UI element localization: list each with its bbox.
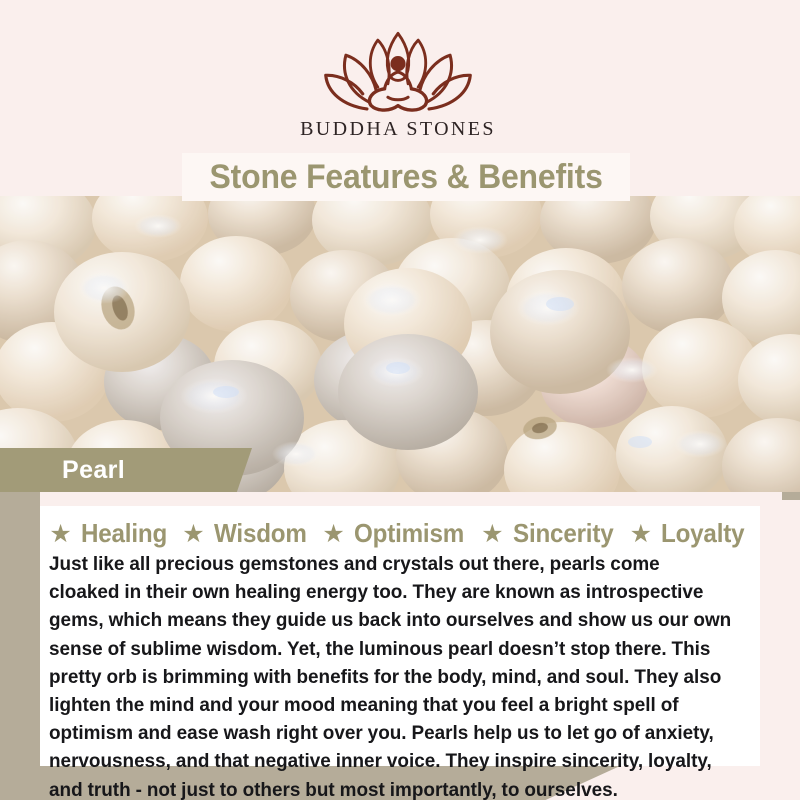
stone-name-banner: Pearl [0, 448, 252, 492]
stone-features-infographic: BUDDHA STONES Stone Features & Benefits [0, 0, 800, 800]
left-edge-band [0, 485, 40, 800]
lotus-meditation-figure-icon [314, 28, 482, 116]
stone-description: Just like all precious gemstones and cry… [49, 550, 733, 800]
title-plate: Stone Features & Benefits [182, 153, 630, 201]
pearls-photo [0, 196, 800, 492]
star-icon: ★ [630, 522, 652, 547]
brand-name: BUDDHA STONES [300, 118, 496, 141]
star-icon: ★ [182, 522, 204, 547]
content-panel: ★ Healing ★ Wisdom ★ Optimism ★ Sincerit… [40, 492, 760, 766]
header-panel: BUDDHA STONES Stone Features & Benefits [18, 14, 778, 196]
keyword-sincerity: Sincerity [513, 518, 613, 549]
page-title: Stone Features & Benefits [209, 158, 602, 197]
keyword-loyalty: Loyalty [661, 518, 744, 549]
keyword-wisdom: Wisdom [214, 518, 307, 549]
keyword-list: ★ Healing ★ Wisdom ★ Optimism ★ Sincerit… [45, 518, 755, 549]
star-icon: ★ [481, 522, 503, 547]
keyword-optimism: Optimism [354, 518, 464, 549]
stone-name: Pearl [62, 456, 125, 485]
header: BUDDHA STONES Stone Features & Benefits [0, 0, 800, 196]
content-inner: ★ Healing ★ Wisdom ★ Optimism ★ Sincerit… [40, 506, 760, 766]
brand-logo: BUDDHA STONES [18, 28, 778, 141]
keyword-healing: Healing [81, 518, 167, 549]
pearls-photo-illustration [0, 196, 800, 492]
star-icon: ★ [49, 522, 71, 547]
star-icon: ★ [322, 522, 344, 547]
